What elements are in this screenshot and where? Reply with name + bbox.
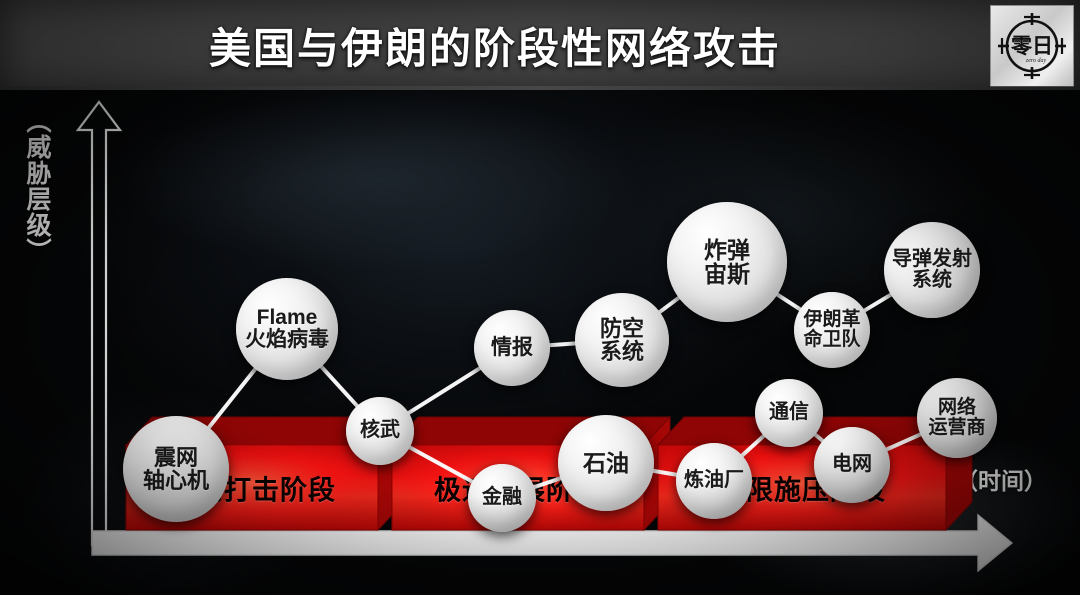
chart-area: （威胁层级） （时间）: [0, 90, 1080, 595]
page-title: 美国与伊朗的阶段性网络攻击: [0, 0, 990, 90]
crosshair-icon: 零日 zero day: [996, 11, 1068, 81]
zero-day-crosshair-logo: 零日 zero day: [990, 5, 1074, 87]
slide-canvas: 美国与伊朗的阶段性网络攻击 零日 zero day: [0, 0, 1080, 595]
vignette-overlay: [0, 90, 1080, 595]
logo-subtext: zero day: [1025, 58, 1047, 64]
logo-text-zeroday: 零日: [1010, 35, 1053, 58]
slide-header: 美国与伊朗的阶段性网络攻击 零日 zero day: [0, 0, 1080, 90]
